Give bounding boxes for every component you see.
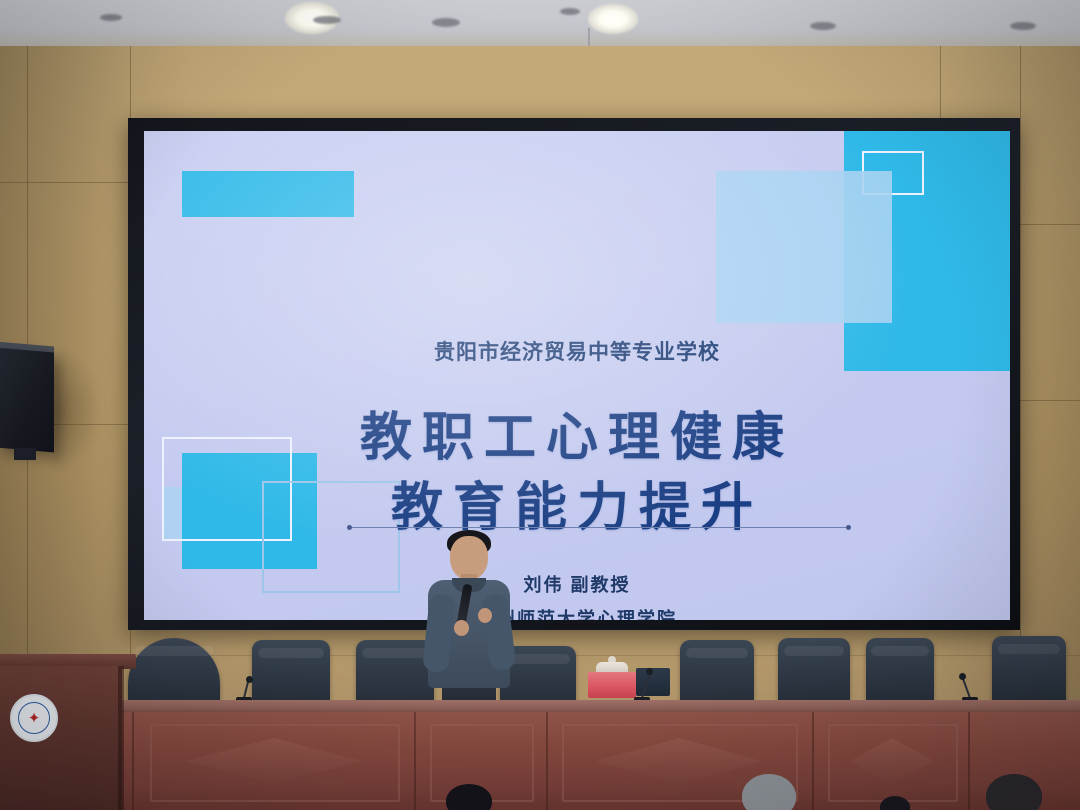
photo-scene: 贵阳市经济贸易中等专业学校 教职工心理健康 教育能力提升 刘伟 副教授 贵州师范… xyxy=(0,0,1080,810)
microphone-head xyxy=(246,676,253,683)
chair-highlight xyxy=(871,646,928,656)
deco-cyan-bar-topleft xyxy=(182,171,354,217)
chair-highlight xyxy=(362,648,428,658)
desk-device xyxy=(636,668,670,696)
lectern xyxy=(0,666,122,810)
ceiling-vent xyxy=(100,14,122,21)
deco-lightblue-square-topright xyxy=(716,171,892,323)
table-seam xyxy=(968,712,970,810)
slide-presenter-name: 刘伟 副教授 xyxy=(144,571,1010,597)
school-emblem-mark: ✦ xyxy=(28,711,41,726)
wall-speaker-icon xyxy=(0,347,54,452)
conference-chair xyxy=(866,638,934,702)
speaker-bracket xyxy=(14,448,36,460)
presentation-slide: 贵阳市经济贸易中等专业学校 教职工心理健康 教育能力提升 刘伟 副教授 贵州师范… xyxy=(144,131,1010,620)
red-nameplate xyxy=(588,672,636,698)
slide-organization: 贵阳市经济贸易中等专业学校 xyxy=(144,336,1010,366)
conference-chair xyxy=(992,636,1066,702)
table-seam xyxy=(812,712,814,810)
school-emblem: ✦ xyxy=(10,694,58,742)
audience-head xyxy=(446,784,492,810)
conference-chair xyxy=(778,638,850,702)
conference-chair xyxy=(252,640,330,702)
presenter-right-hand xyxy=(478,608,492,623)
chair-highlight xyxy=(258,648,324,658)
school-emblem-ring: ✦ xyxy=(18,702,50,734)
ceiling-vent xyxy=(432,18,460,27)
microphone-head xyxy=(959,673,966,680)
table-seam xyxy=(132,712,134,810)
audience-head xyxy=(742,774,796,810)
conference-chair xyxy=(680,640,754,702)
ceiling-vent xyxy=(810,22,836,30)
presenter-left-hand xyxy=(454,620,469,636)
ceiling-vent xyxy=(1010,22,1036,30)
ceiling xyxy=(0,0,1080,52)
presenter xyxy=(420,528,516,713)
audience-head xyxy=(986,774,1042,810)
slide-title-line1: 教职工心理健康 xyxy=(144,395,1010,470)
table-seam xyxy=(546,712,548,810)
chair-highlight xyxy=(135,646,212,656)
slide-presenter-affiliation: 贵州师范大学心理学院 xyxy=(144,605,1010,620)
chair-highlight xyxy=(784,646,844,656)
chair-highlight xyxy=(998,644,1060,654)
table-seam xyxy=(414,712,416,810)
speaker-shadow xyxy=(52,350,98,470)
microphone-head xyxy=(646,668,653,675)
conference-chair xyxy=(128,638,220,704)
slide-title-line2: 教育能力提升 xyxy=(144,465,1010,540)
ceiling-vent xyxy=(560,8,580,15)
ceiling-light xyxy=(588,4,638,34)
ceiling-vent xyxy=(313,16,341,24)
lectern-edge xyxy=(118,666,124,810)
chair-highlight xyxy=(686,648,748,658)
